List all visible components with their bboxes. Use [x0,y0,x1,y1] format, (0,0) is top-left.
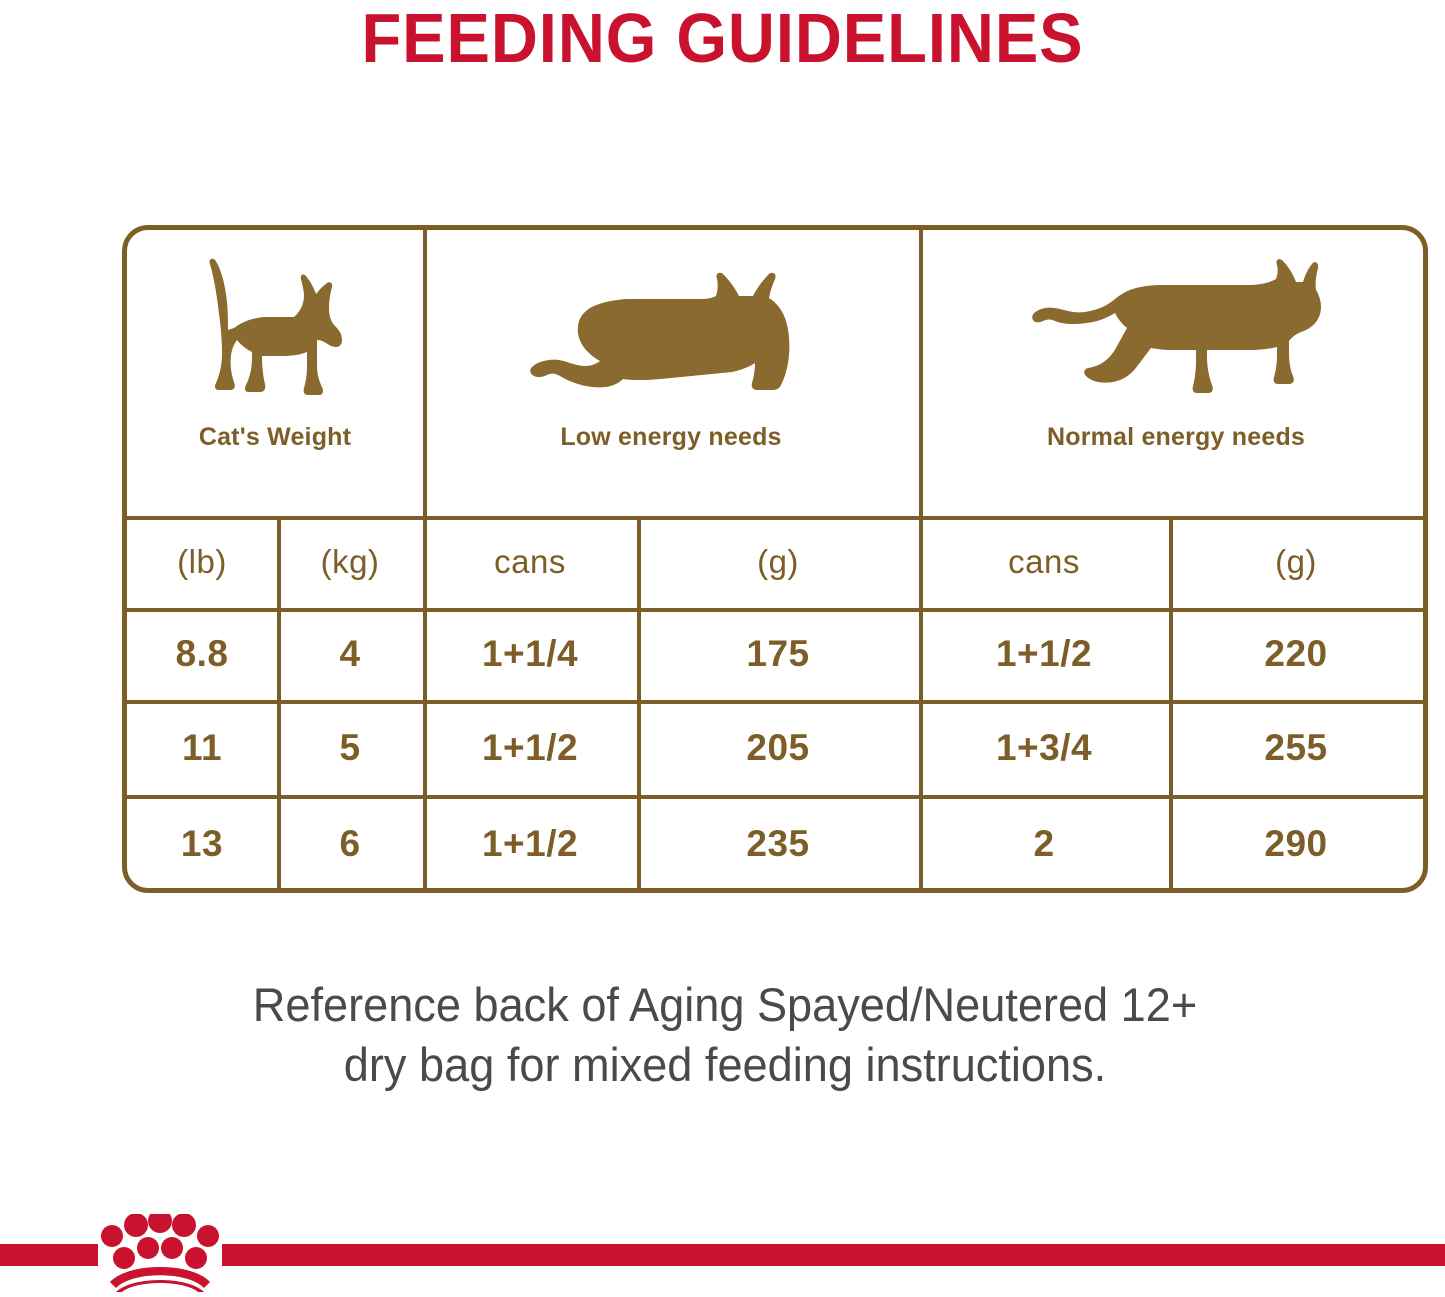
cat-lying-icon [521,238,821,413]
footer-rule-right [222,1244,1445,1266]
footnote: Reference back of Aging Spayed/Neutered … [115,975,1334,1095]
unit-cell-low-cans: cans [423,516,637,608]
table-row: 6 [277,795,423,893]
feeding-guidelines-table: Cat's Weight Low energy needs Normal ene… [122,225,1428,893]
table-row: 5 [277,700,423,795]
cat-standing-icon [190,238,360,413]
table-row: 1+1/2 [423,700,637,795]
table-row: 290 [1169,795,1423,893]
table-header-cats-weight: Cat's Weight [127,230,423,516]
table-row: 220 [1169,608,1423,700]
table-row: 4 [277,608,423,700]
cat-walking-icon [1031,238,1321,413]
header-label-normal-energy: Normal energy needs [1047,423,1305,452]
table-row: 2 [919,795,1169,893]
footnote-line-1: Reference back of Aging Spayed/Neutered … [115,975,1334,1035]
unit-cell-normal-g: (g) [1169,516,1423,608]
table-row: 13 [127,795,277,893]
unit-cell-lb: (lb) [127,516,277,608]
unit-cell-low-g: (g) [637,516,919,608]
table-row: 235 [637,795,919,893]
footer-rule-left [0,1244,98,1266]
table-row: 255 [1169,700,1423,795]
table-header-low-energy: Low energy needs [423,230,919,516]
brand-footer [0,1244,1445,1292]
table-row: 1+1/2 [423,795,637,893]
table-row: 1+1/2 [919,608,1169,700]
table-row: 8.8 [127,608,277,700]
table-header-normal-energy: Normal energy needs [919,230,1433,516]
header-label-low-energy: Low energy needs [560,423,781,452]
table-row: 1+1/4 [423,608,637,700]
footnote-line-2: dry bag for mixed feeding instructions. [115,1035,1334,1095]
table-row: 11 [127,700,277,795]
header-label-cats-weight: Cat's Weight [199,423,351,452]
page-title: FEEDING GUIDELINES [51,2,1395,76]
table-row: 205 [637,700,919,795]
unit-cell-normal-cans: cans [919,516,1169,608]
royal-canin-crown-logo [98,1214,222,1292]
table-row: 175 [637,608,919,700]
unit-cell-kg: (kg) [277,516,423,608]
table-row: 1+3/4 [919,700,1169,795]
